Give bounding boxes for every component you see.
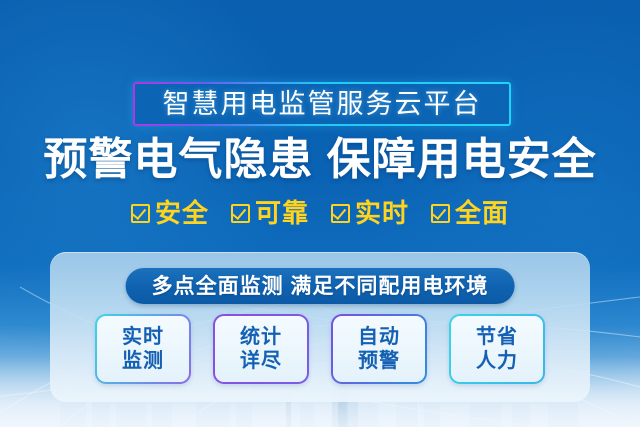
subtitle-pill: 多点全面监测 满足不同配用电环境 [126,268,515,304]
feature-card-line1: 自动 [358,325,400,349]
feature-tick-item: 可靠 [231,200,309,226]
checkbox-checked-icon [331,204,350,223]
feature-tick-label: 安全 [155,200,209,226]
feature-card-detailed-statistics[interactable]: 统计 详尽 [213,314,309,384]
feature-card-line1: 统计 [240,325,282,349]
feature-card-save-manpower[interactable]: 节省 人力 [449,314,545,384]
feature-card-realtime-monitoring[interactable]: 实时 监测 [95,314,191,384]
poster-canvas: 智慧用电监管服务云平台 预警电气隐患 保障用电安全 安全 可靠 实时 全面 多点… [0,0,640,427]
feature-tick-list: 安全 可靠 实时 全面 [0,200,640,226]
checkbox-checked-icon [431,204,450,223]
feature-card-line1: 节省 [476,325,518,349]
feature-card-line2: 人力 [476,349,518,373]
platform-title-box: 智慧用电监管服务云平台 [133,82,511,126]
feature-card-line2: 预警 [358,349,400,373]
feature-tick-label: 全面 [455,200,509,226]
feature-tick-item: 安全 [131,200,209,226]
platform-title-text: 智慧用电监管服务云平台 [163,91,482,118]
feature-tick-label: 可靠 [255,200,309,226]
feature-card-auto-alarm[interactable]: 自动 预警 [331,314,427,384]
feature-tick-label: 实时 [355,200,409,226]
feature-card-line2: 详尽 [240,349,282,373]
feature-tick-item: 全面 [431,200,509,226]
feature-card-line2: 监测 [122,349,164,373]
headline-text: 预警电气隐患 保障用电安全 [0,136,640,184]
checkbox-checked-icon [131,204,150,223]
feature-card-list: 实时 监测 统计 详尽 自动 预警 节省 人力 [0,314,640,384]
checkbox-checked-icon [231,204,250,223]
subtitle-pill-text: 多点全面监测 满足不同配用电环境 [152,276,489,297]
feature-card-line1: 实时 [122,325,164,349]
feature-tick-item: 实时 [331,200,409,226]
